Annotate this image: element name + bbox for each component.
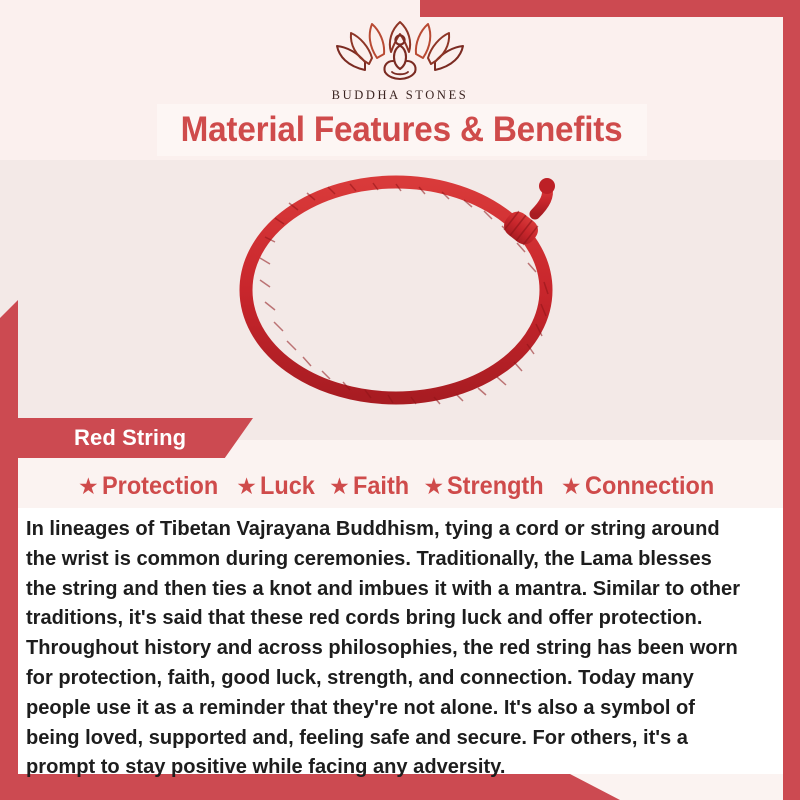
star-icon: ★ (561, 475, 582, 498)
benefit-item-connection: ★ Connection (561, 472, 722, 501)
benefit-label: Luck (260, 472, 315, 501)
benefit-item-luck: ★ Luck (236, 472, 318, 501)
star-icon: ★ (329, 475, 350, 498)
brand-name: BUDDHA STONES (0, 88, 800, 103)
red-braided-string-bracelet-image (191, 162, 611, 410)
benefit-item-faith: ★ Faith (329, 472, 412, 501)
product-name: Red String (74, 425, 186, 451)
description-card: In lineages of Tibetan Vajrayana Buddhis… (18, 508, 783, 774)
decorative-right-red-band (783, 0, 800, 800)
product-name-banner: Red String (18, 418, 253, 458)
product-photo-area (18, 160, 783, 412)
star-icon: ★ (424, 475, 445, 498)
benefit-label: Connection (585, 472, 714, 501)
benefit-label: Strength (447, 472, 544, 501)
benefits-list: ★ Protection ★ Luck ★ Faith ★ Strength ★… (18, 466, 782, 506)
headline-plate: Material Features & Benefits (157, 104, 647, 156)
lotus-meditation-figure-icon (325, 14, 475, 86)
infographic-poster: BUDDHA STONES Material Features & Benefi… (0, 0, 800, 800)
brand-logo: BUDDHA STONES (0, 14, 800, 103)
star-icon: ★ (236, 475, 257, 498)
star-icon: ★ (78, 475, 99, 498)
benefit-label: Protection (102, 472, 218, 501)
benefit-item-protection: ★ Protection (78, 472, 225, 501)
benefit-item-strength: ★ Strength (424, 472, 550, 501)
description-paragraph: In lineages of Tibetan Vajrayana Buddhis… (26, 514, 747, 782)
benefit-label: Faith (353, 472, 409, 501)
page-title: Material Features & Benefits (181, 110, 623, 150)
decorative-left-red-band (0, 300, 18, 800)
